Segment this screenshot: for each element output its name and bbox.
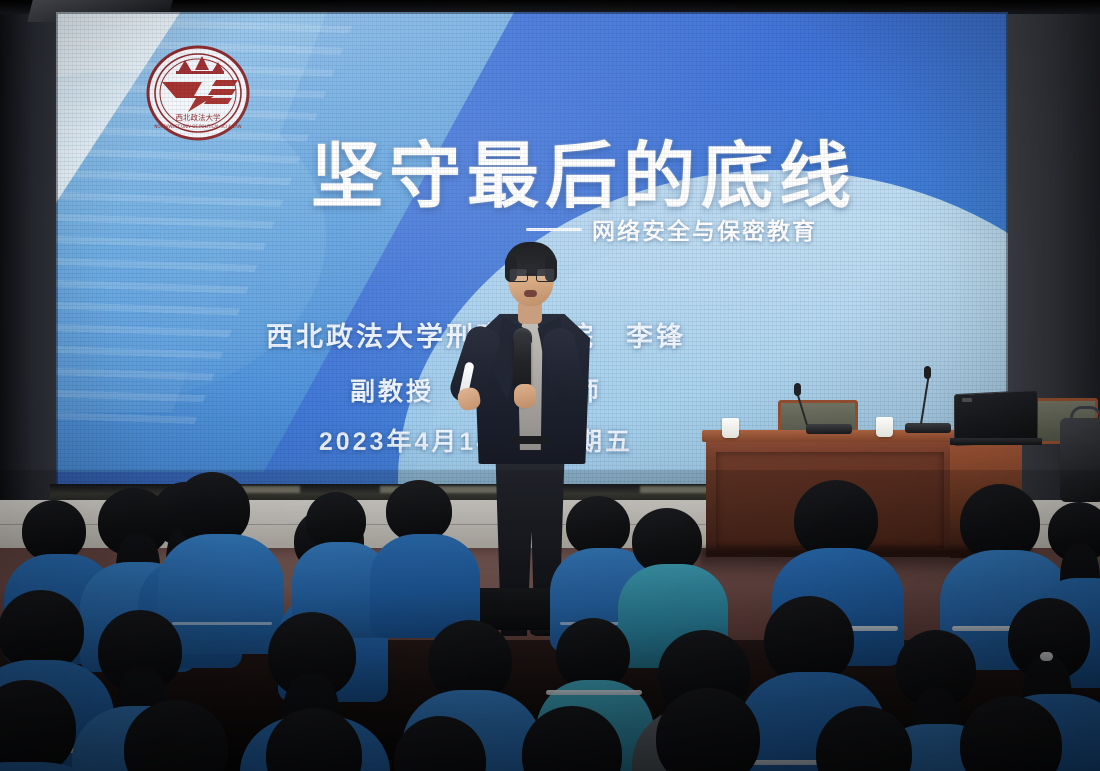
cup-icon-left [722,418,739,438]
person-head [656,688,760,771]
uniform-stripe [172,622,272,625]
microphone-icon-right-head [924,366,931,379]
person-head [22,500,86,562]
lens-left [509,268,528,282]
audience-area [0,470,1100,771]
wall-left-panel [0,0,60,520]
person-head [266,708,362,771]
glasses-bridge [526,273,536,275]
speaker-hand-right [514,384,536,408]
laptop-logo [962,398,972,402]
lens-right [536,268,555,282]
person-head [566,496,630,556]
slide-title: 坚守最后的底线 [234,140,934,216]
person-head [386,480,452,542]
slide-subtitle: 网络安全与保密教育 [592,212,817,246]
speaker-mouth [524,290,537,297]
person-head [764,596,854,684]
microphone-icon-right-base [905,423,951,433]
lecture-hall-photo: 西北政法大学 NORTHWEST UNIV OF POLITICAL SCI &… [0,0,1100,771]
svg-text:西北政法大学: 西北政法大学 [176,112,221,122]
uniform-collar [546,690,642,695]
subtitle-rule-icon [526,228,582,231]
laptop-icon-base [950,438,1042,445]
hair-tie-icon [1040,652,1053,661]
microphone-icon-left-head [794,383,801,396]
speaker-belt [514,436,548,444]
university-emblem: 西北政法大学 NORTHWEST UNIV OF POLITICAL SCI &… [142,38,254,148]
microphone-icon-left-base [806,424,852,434]
svg-text:NORTHWEST UNIV OF POLITICAL SC: NORTHWEST UNIV OF POLITICAL SCI & LAW [154,124,241,129]
eyeglasses-icon [509,268,553,280]
cup-icon-right [876,417,893,437]
